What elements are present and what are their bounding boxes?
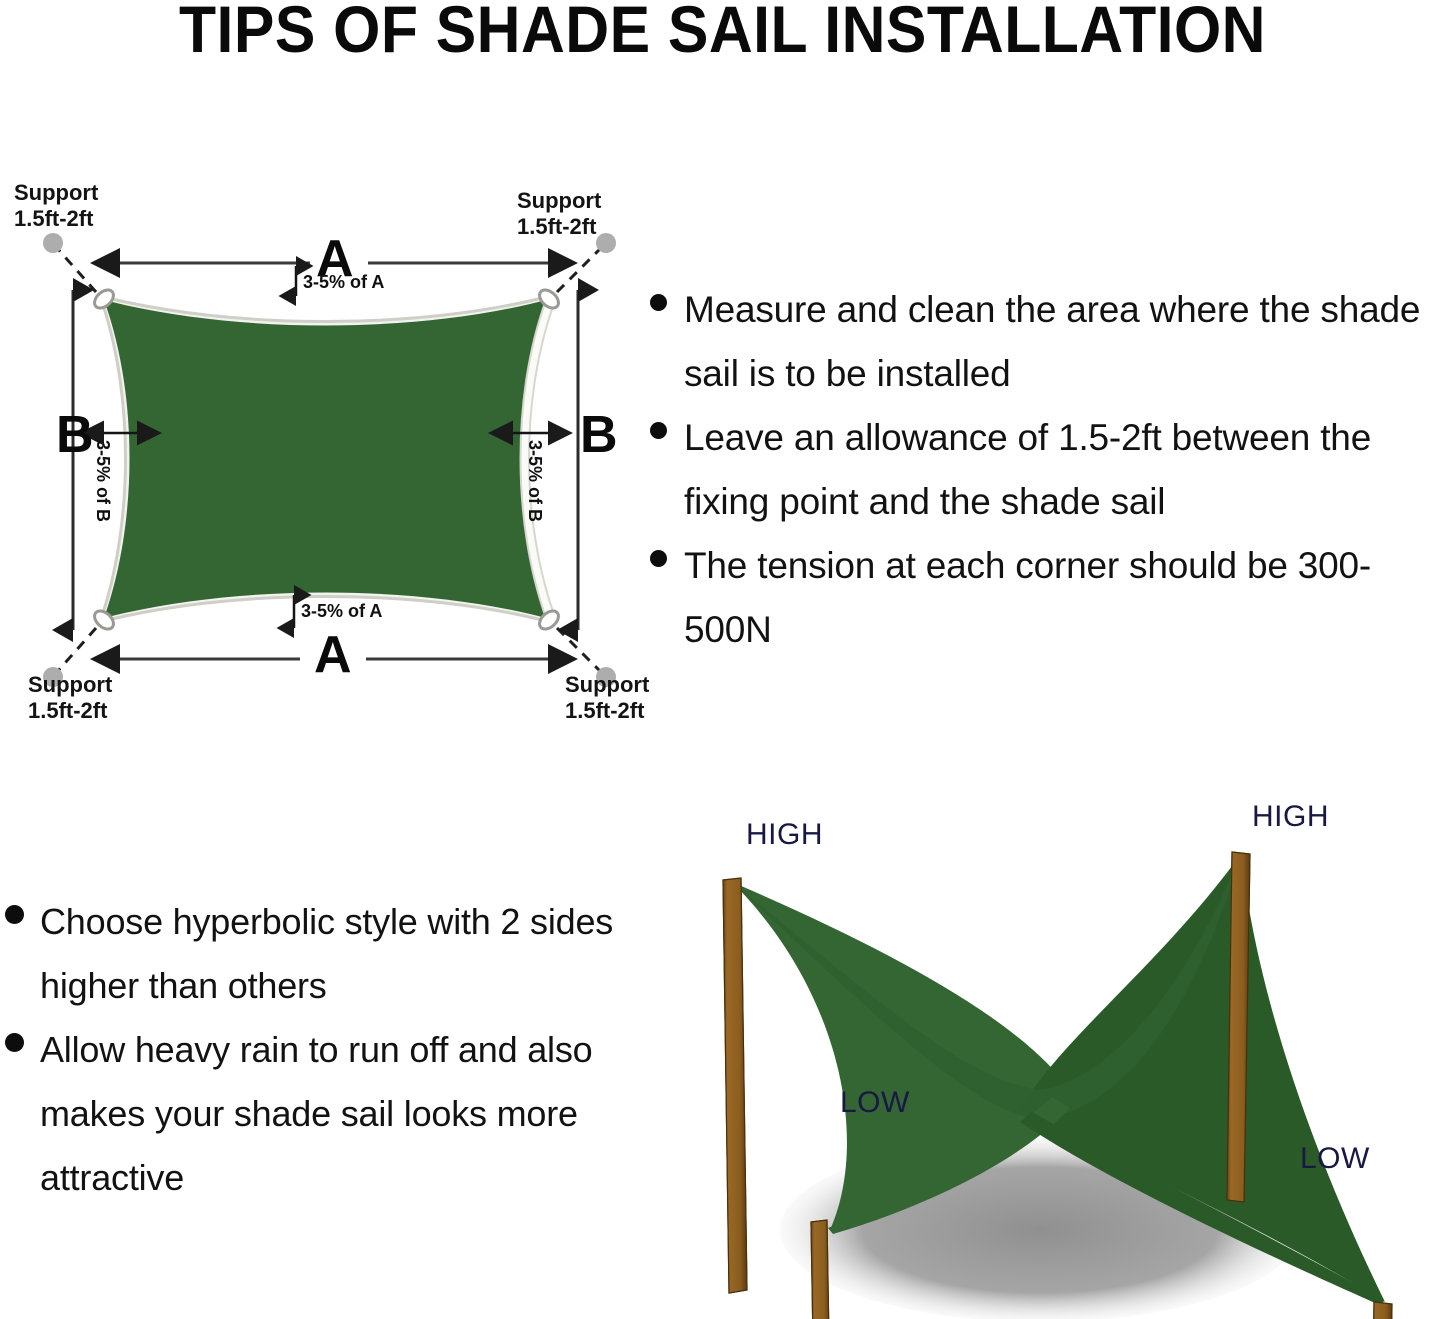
bullet-dot-icon: [650, 294, 667, 311]
bullet-dot-icon: [650, 422, 667, 439]
infographic-page: TIPS OF SHADE SAIL INSTALLATION: [0, 0, 1445, 1319]
post-low-right-front: [1370, 1302, 1392, 1319]
list-item: Choose hyperbolic style with 2 sides hig…: [5, 890, 625, 1018]
dimension-letter-a-bottom: A: [314, 629, 352, 681]
bullet-dot-icon: [650, 550, 667, 567]
list-item: Allow heavy rain to run off and also mak…: [5, 1018, 625, 1210]
label-high-left: HIGH: [746, 818, 823, 852]
tip-text: Measure and clean the area where the sha…: [684, 278, 1445, 406]
support-label-top-right: Support 1.5ft-2ft: [517, 188, 601, 240]
support-point-top-left: [43, 233, 96, 292]
list-item: The tension at each corner should be 300…: [650, 534, 1445, 662]
support-label-line1: Support: [28, 672, 112, 698]
tip-text: Leave an allowance of 1.5-2ft between th…: [684, 406, 1445, 534]
support-label-line2: 1.5ft-2ft: [565, 698, 649, 724]
dimension-letter-b-right: B: [580, 409, 618, 461]
tips-list-installation: Measure and clean the area where the sha…: [650, 278, 1445, 662]
curvature-label-right: 3-5% of B: [524, 440, 545, 522]
support-label-top-left: Support 1.5ft-2ft: [14, 180, 98, 232]
sail-body: [104, 300, 546, 618]
bullet-dot-icon: [5, 1033, 24, 1052]
tip-text: Allow heavy rain to run off and also mak…: [40, 1018, 625, 1210]
support-label-bottom-right: Support 1.5ft-2ft: [565, 672, 649, 724]
post-high-left-front: [723, 878, 747, 1293]
support-label-line2: 1.5ft-2ft: [28, 698, 112, 724]
support-label-bottom-left: Support 1.5ft-2ft: [28, 672, 112, 724]
dimension-letter-b-left: B: [56, 409, 94, 461]
tips-list-hyperbolic: Choose hyperbolic style with 2 sides hig…: [5, 890, 625, 1210]
label-low-left: LOW: [840, 1086, 910, 1120]
hyperbolic-sail-illustration: [640, 790, 1445, 1319]
label-high-right: HIGH: [1252, 800, 1329, 834]
support-label-line1: Support: [565, 672, 649, 698]
curvature-label-top: 3-5% of A: [303, 272, 384, 293]
post-low-left-front: [811, 1220, 830, 1319]
curvature-label-left: 3-5% of B: [92, 440, 113, 522]
support-label-line1: Support: [14, 180, 98, 206]
bullet-dot-icon: [5, 905, 24, 924]
list-item: Measure and clean the area where the sha…: [650, 278, 1445, 406]
tip-text: The tension at each corner should be 300…: [684, 534, 1445, 662]
support-label-line2: 1.5ft-2ft: [517, 214, 601, 240]
support-label-line2: 1.5ft-2ft: [14, 206, 98, 232]
curvature-label-bottom: 3-5% of A: [301, 601, 382, 622]
support-point-top-right: [557, 233, 616, 292]
label-low-right: LOW: [1300, 1142, 1370, 1176]
support-label-line1: Support: [517, 188, 601, 214]
tip-text: Choose hyperbolic style with 2 sides hig…: [40, 890, 625, 1018]
list-item: Leave an allowance of 1.5-2ft between th…: [650, 406, 1445, 534]
